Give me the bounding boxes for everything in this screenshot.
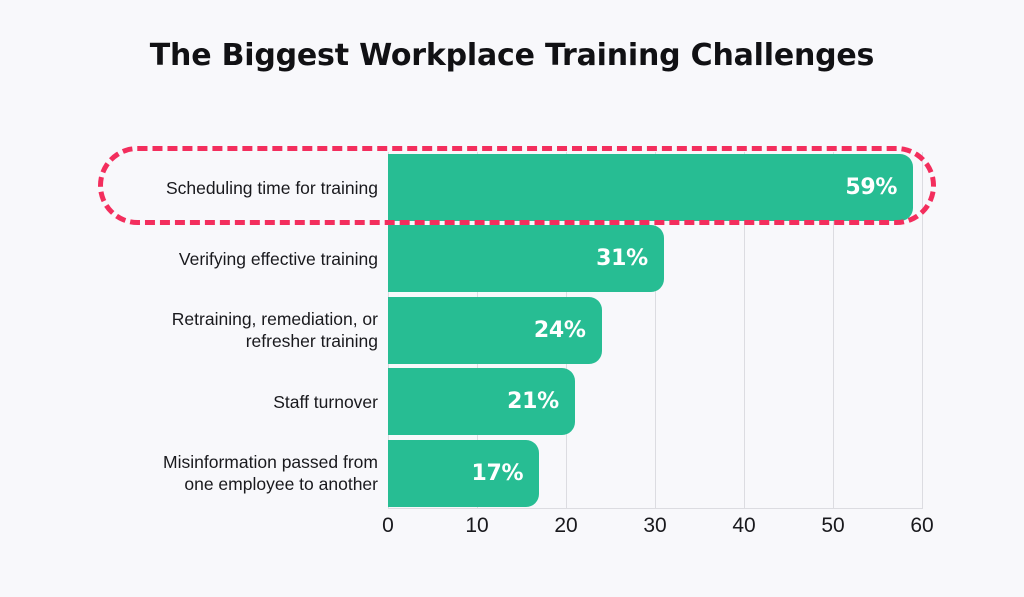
category-label: Retraining, remediation, or refresher tr… [78, 295, 378, 366]
x-tick-label: 50 [803, 514, 863, 538]
x-tick-label: 40 [714, 514, 774, 538]
bar-track: 31% [388, 223, 922, 294]
bar-value-label: 17% [472, 461, 540, 486]
bar-chart-plot: Scheduling time for training59%Verifying… [0, 0, 1024, 597]
bar-row: Staff turnover21% [0, 366, 1024, 437]
category-label: Scheduling time for training [78, 152, 378, 223]
x-tick-label: 30 [625, 514, 685, 538]
bar-track: 24% [388, 295, 922, 366]
bar-value-label: 59% [845, 175, 913, 200]
bar-row: Retraining, remediation, or refresher tr… [0, 295, 1024, 366]
bar-row: Scheduling time for training59% [0, 152, 1024, 223]
x-tick-label: 0 [358, 514, 418, 538]
bar-value-label: 24% [534, 318, 602, 343]
bar[interactable]: 24% [388, 297, 602, 364]
x-tick-label: 10 [447, 514, 507, 538]
category-label: Misinformation passed from one employee … [78, 438, 378, 509]
category-label: Staff turnover [78, 366, 378, 437]
bar[interactable]: 31% [388, 225, 664, 292]
bar-row: Misinformation passed from one employee … [0, 438, 1024, 509]
bar[interactable]: 21% [388, 368, 575, 435]
x-tick-label: 20 [536, 514, 596, 538]
bar[interactable]: 59% [388, 154, 913, 221]
bar-track: 21% [388, 366, 922, 437]
x-tick-label: 60 [892, 514, 952, 538]
category-label: Verifying effective training [78, 223, 378, 294]
bar-value-label: 31% [596, 246, 664, 271]
bar-track: 17% [388, 438, 922, 509]
bar-track: 59% [388, 152, 922, 223]
bar-rows: Scheduling time for training59%Verifying… [0, 152, 1024, 509]
bar-value-label: 21% [507, 389, 575, 414]
bar[interactable]: 17% [388, 440, 539, 507]
bar-row: Verifying effective training31% [0, 223, 1024, 294]
chart-page: The Biggest Workplace Training Challenge… [0, 0, 1024, 597]
